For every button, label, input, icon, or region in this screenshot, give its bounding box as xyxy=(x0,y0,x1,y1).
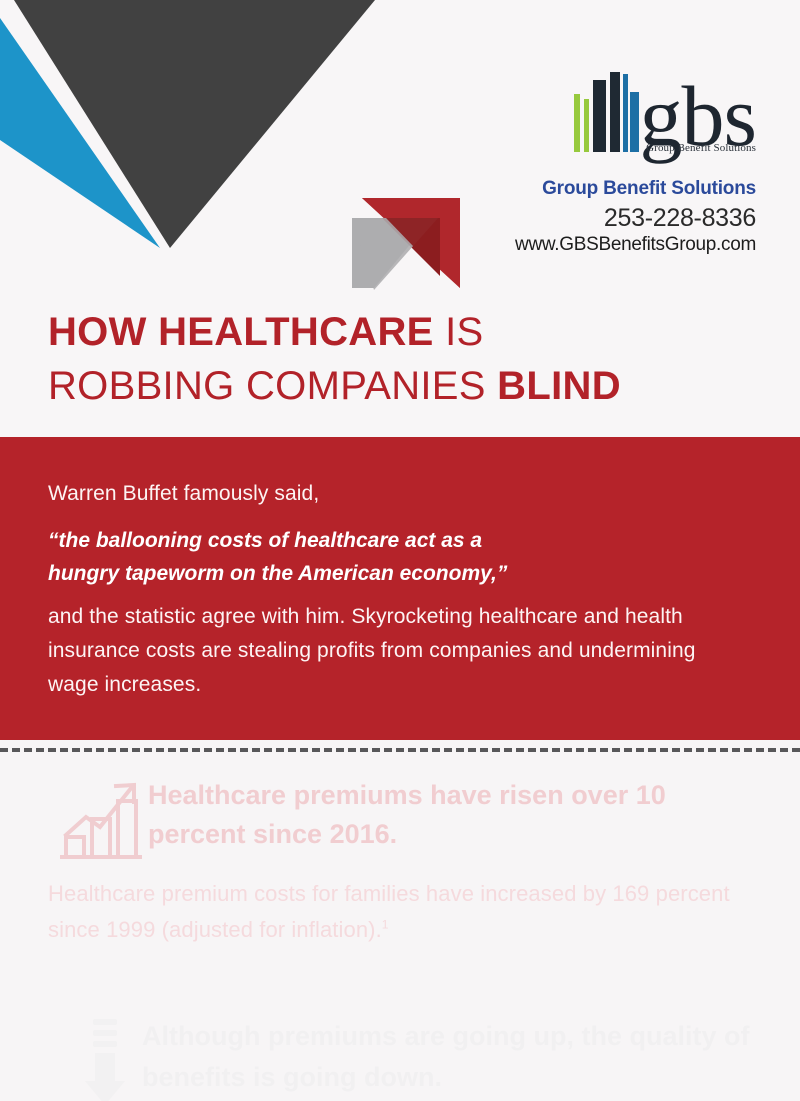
logo-bar-navy-1 xyxy=(593,80,606,152)
dark-triangle-decoration xyxy=(0,0,380,250)
quote-text: “the ballooning costs of healthcare act … xyxy=(48,525,688,590)
website-url[interactable]: www.GBSBenefitsGroup.com xyxy=(496,234,756,256)
stat-body-text: Healthcare premium costs for families ha… xyxy=(48,881,730,942)
quote-text-line-2: hungry tapeworm on the American economy,… xyxy=(48,558,688,591)
stat-body: Healthcare premium costs for families ha… xyxy=(48,876,768,947)
page-title-line-2-bold: BLIND xyxy=(497,364,621,408)
stat-section: Healthcare premiums have risen over 10 p… xyxy=(0,760,800,990)
page-title-line-1: HOW HEALTHCARE IS xyxy=(48,305,748,359)
infographic-page: gbsGroup Benefit Solutions Group Benefit… xyxy=(0,0,800,1101)
logo-bars-icon xyxy=(572,66,638,152)
dashed-divider xyxy=(0,748,800,752)
quote-intro: Warren Buffet famously said, xyxy=(48,482,319,506)
page-title: HOW HEALTHCARE IS ROBBING COMPANIES BLIN… xyxy=(48,305,748,413)
logo-bar-blue-1 xyxy=(623,74,628,152)
logo-bar-green-1 xyxy=(574,94,580,152)
logo-bar-green-2 xyxy=(584,99,589,152)
bar-chart-growth-icon xyxy=(52,775,148,865)
phone-number[interactable]: 253-228-8336 xyxy=(496,204,756,233)
logo-tagline: Group Benefit Solutions xyxy=(646,143,756,154)
logo-bar-blue-2 xyxy=(630,92,639,152)
bottom-heading: Although premiums are going up, the qual… xyxy=(142,1016,782,1097)
stat-heading: Healthcare premiums have risen over 10 p… xyxy=(148,776,768,854)
page-title-line-2-regular: ROBBING COMPANIES xyxy=(48,364,497,408)
quote-body: and the statistic agree with him. Skyroc… xyxy=(48,600,748,702)
quote-text-line-1: “the ballooning costs of healthcare act … xyxy=(48,525,688,558)
chevron-accent-decoration xyxy=(352,188,472,298)
company-name: Group Benefit Solutions xyxy=(496,178,756,200)
page-title-line-2: ROBBING COMPANIES BLIND xyxy=(48,359,748,413)
logo-block: gbsGroup Benefit Solutions Group Benefit… xyxy=(496,56,756,256)
logo-bar-navy-2 xyxy=(610,72,620,152)
arrow-down-icon xyxy=(82,1015,128,1101)
page-title-line-1-trail: IS xyxy=(445,310,483,354)
stat-footnote-marker: 1 xyxy=(382,917,389,931)
logo-wordmark: gbsGroup Benefit Solutions xyxy=(640,81,756,152)
quote-band: Warren Buffet famously said, “the balloo… xyxy=(0,437,800,740)
gbs-logo-mark: gbsGroup Benefit Solutions xyxy=(572,56,756,152)
bottom-section: Although premiums are going up, the qual… xyxy=(0,1000,800,1101)
page-title-line-1-strong: HOW HEALTHCARE xyxy=(48,310,445,354)
